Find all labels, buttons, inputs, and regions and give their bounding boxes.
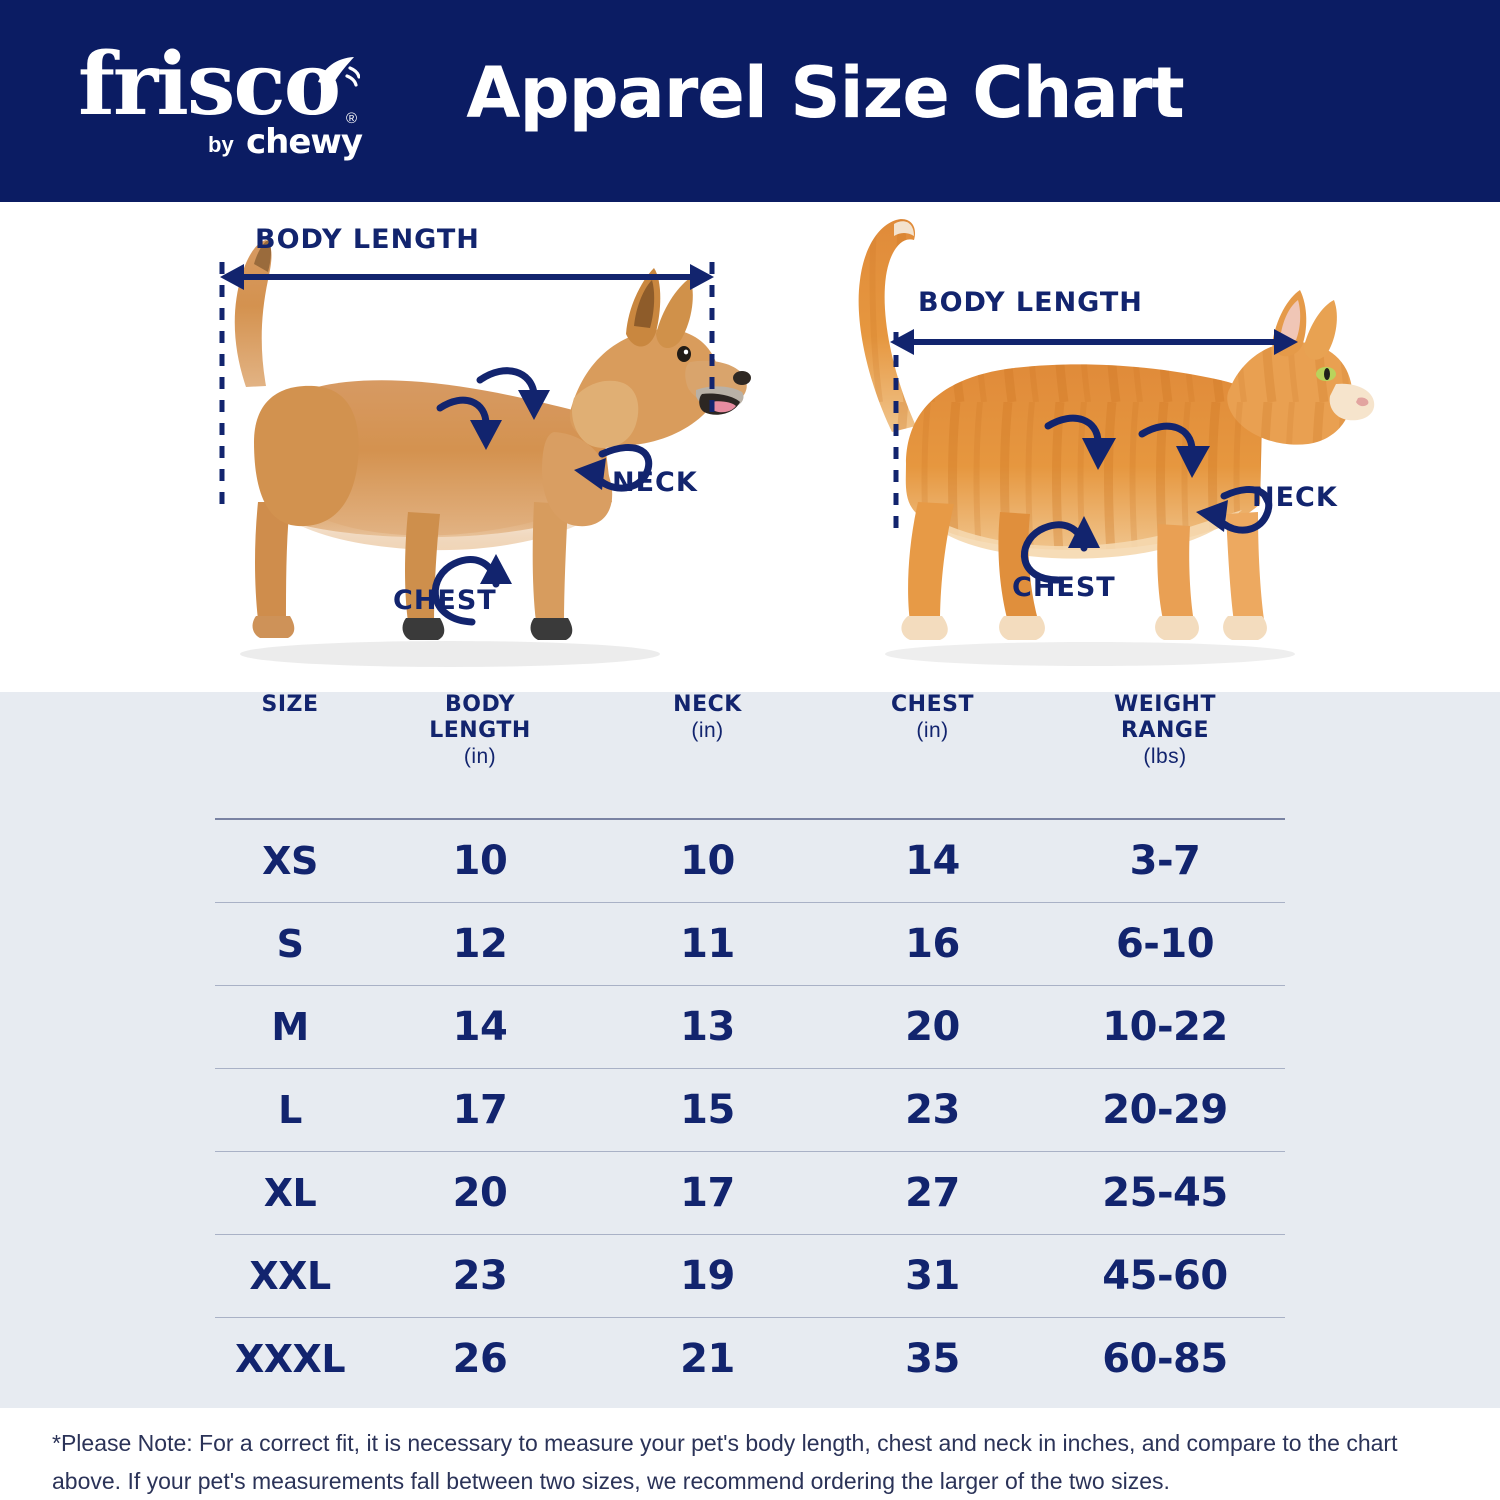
cell-body_length: 23 — [365, 1235, 595, 1318]
cell-neck: 19 — [595, 1235, 820, 1318]
cell-size: XXL — [215, 1235, 365, 1318]
cell-body_length: 14 — [365, 986, 595, 1069]
cell-chest: 31 — [820, 1235, 1045, 1318]
unit-body-length: (in) — [365, 744, 595, 770]
cell-body_length: 26 — [365, 1318, 595, 1401]
sizing-footnote: *Please Note: For a correct fit, it is n… — [52, 1424, 1452, 1500]
cell-neck: 17 — [595, 1152, 820, 1235]
column-header-neck: NECK (in) — [595, 692, 820, 819]
cat-chest-label: CHEST — [1012, 572, 1116, 603]
cell-neck: 11 — [595, 903, 820, 986]
page-header: frisco ® by chewy Apparel Size Chart — [0, 0, 1500, 202]
unit-chest: (in) — [820, 718, 1045, 744]
unit-neck: (in) — [595, 718, 820, 744]
cell-weight: 3-7 — [1045, 819, 1285, 903]
table-header-row: SIZE BODY LENGTH (in) NECK (in) CHEST (i… — [215, 692, 1285, 819]
cell-chest: 16 — [820, 903, 1045, 986]
cell-size: M — [215, 986, 365, 1069]
size-table-section: SIZE BODY LENGTH (in) NECK (in) CHEST (i… — [0, 692, 1500, 1408]
column-header-size: SIZE — [215, 692, 365, 819]
cat-photo-illustration — [790, 202, 1380, 692]
cell-chest: 20 — [820, 986, 1045, 1069]
apparel-size-chart-page: frisco ® by chewy Apparel Size Chart — [0, 0, 1500, 1500]
dog-chest-label: CHEST — [393, 585, 497, 616]
cat-neck-label: NECK — [1252, 482, 1338, 513]
column-header-chest: CHEST (in) — [820, 692, 1045, 819]
cell-chest: 23 — [820, 1069, 1045, 1152]
table-row: M14132010-22 — [215, 986, 1285, 1069]
column-header-weight-range: WEIGHT RANGE (lbs) — [1045, 692, 1285, 819]
column-header-body-length: BODY LENGTH (in) — [365, 692, 595, 819]
cell-body_length: 17 — [365, 1069, 595, 1152]
table-row: S1211166-10 — [215, 903, 1285, 986]
cell-chest: 27 — [820, 1152, 1045, 1235]
cell-weight: 25-45 — [1045, 1152, 1285, 1235]
cat-illustration: BODY LENGTH NECK CHEST — [790, 202, 1380, 692]
table-row: XL20172725-45 — [215, 1152, 1285, 1235]
cell-neck: 15 — [595, 1069, 820, 1152]
cell-size: S — [215, 903, 365, 986]
table-row: XXXL26213560-85 — [215, 1318, 1285, 1401]
cell-neck: 13 — [595, 986, 820, 1069]
dog-body-length-label: BODY LENGTH — [255, 224, 480, 255]
cell-neck: 10 — [595, 819, 820, 903]
cell-body_length: 12 — [365, 903, 595, 986]
cell-chest: 35 — [820, 1318, 1045, 1401]
cell-weight: 10-22 — [1045, 986, 1285, 1069]
unit-weight: (lbs) — [1045, 744, 1285, 770]
measurement-illustrations: BODY LENGTH NECK CHEST — [0, 202, 1500, 692]
cell-size: XL — [215, 1152, 365, 1235]
apparel-size-table: SIZE BODY LENGTH (in) NECK (in) CHEST (i… — [215, 692, 1285, 1400]
dog-illustration: BODY LENGTH NECK CHEST — [150, 202, 770, 692]
cell-size: L — [215, 1069, 365, 1152]
page-title: Apparel Size Chart — [0, 52, 1500, 134]
cat-body-length-label: BODY LENGTH — [918, 287, 1143, 318]
cell-neck: 21 — [595, 1318, 820, 1401]
table-row: XS1010143-7 — [215, 819, 1285, 903]
cell-weight: 60-85 — [1045, 1318, 1285, 1401]
dog-photo-illustration — [150, 202, 770, 692]
table-row: XXL23193145-60 — [215, 1235, 1285, 1318]
cell-weight: 6-10 — [1045, 903, 1285, 986]
dog-neck-label: NECK — [612, 467, 698, 498]
table-head: SIZE BODY LENGTH (in) NECK (in) CHEST (i… — [215, 692, 1285, 819]
cell-size: XS — [215, 819, 365, 903]
table-row: L17152320-29 — [215, 1069, 1285, 1152]
cell-weight: 20-29 — [1045, 1069, 1285, 1152]
cell-size: XXXL — [215, 1318, 365, 1401]
cell-body_length: 20 — [365, 1152, 595, 1235]
cell-body_length: 10 — [365, 819, 595, 903]
table-body: XS1010143-7S1211166-10M14132010-22L17152… — [215, 819, 1285, 1400]
cell-chest: 14 — [820, 819, 1045, 903]
logo-by-text: by — [208, 132, 234, 158]
cell-weight: 45-60 — [1045, 1235, 1285, 1318]
